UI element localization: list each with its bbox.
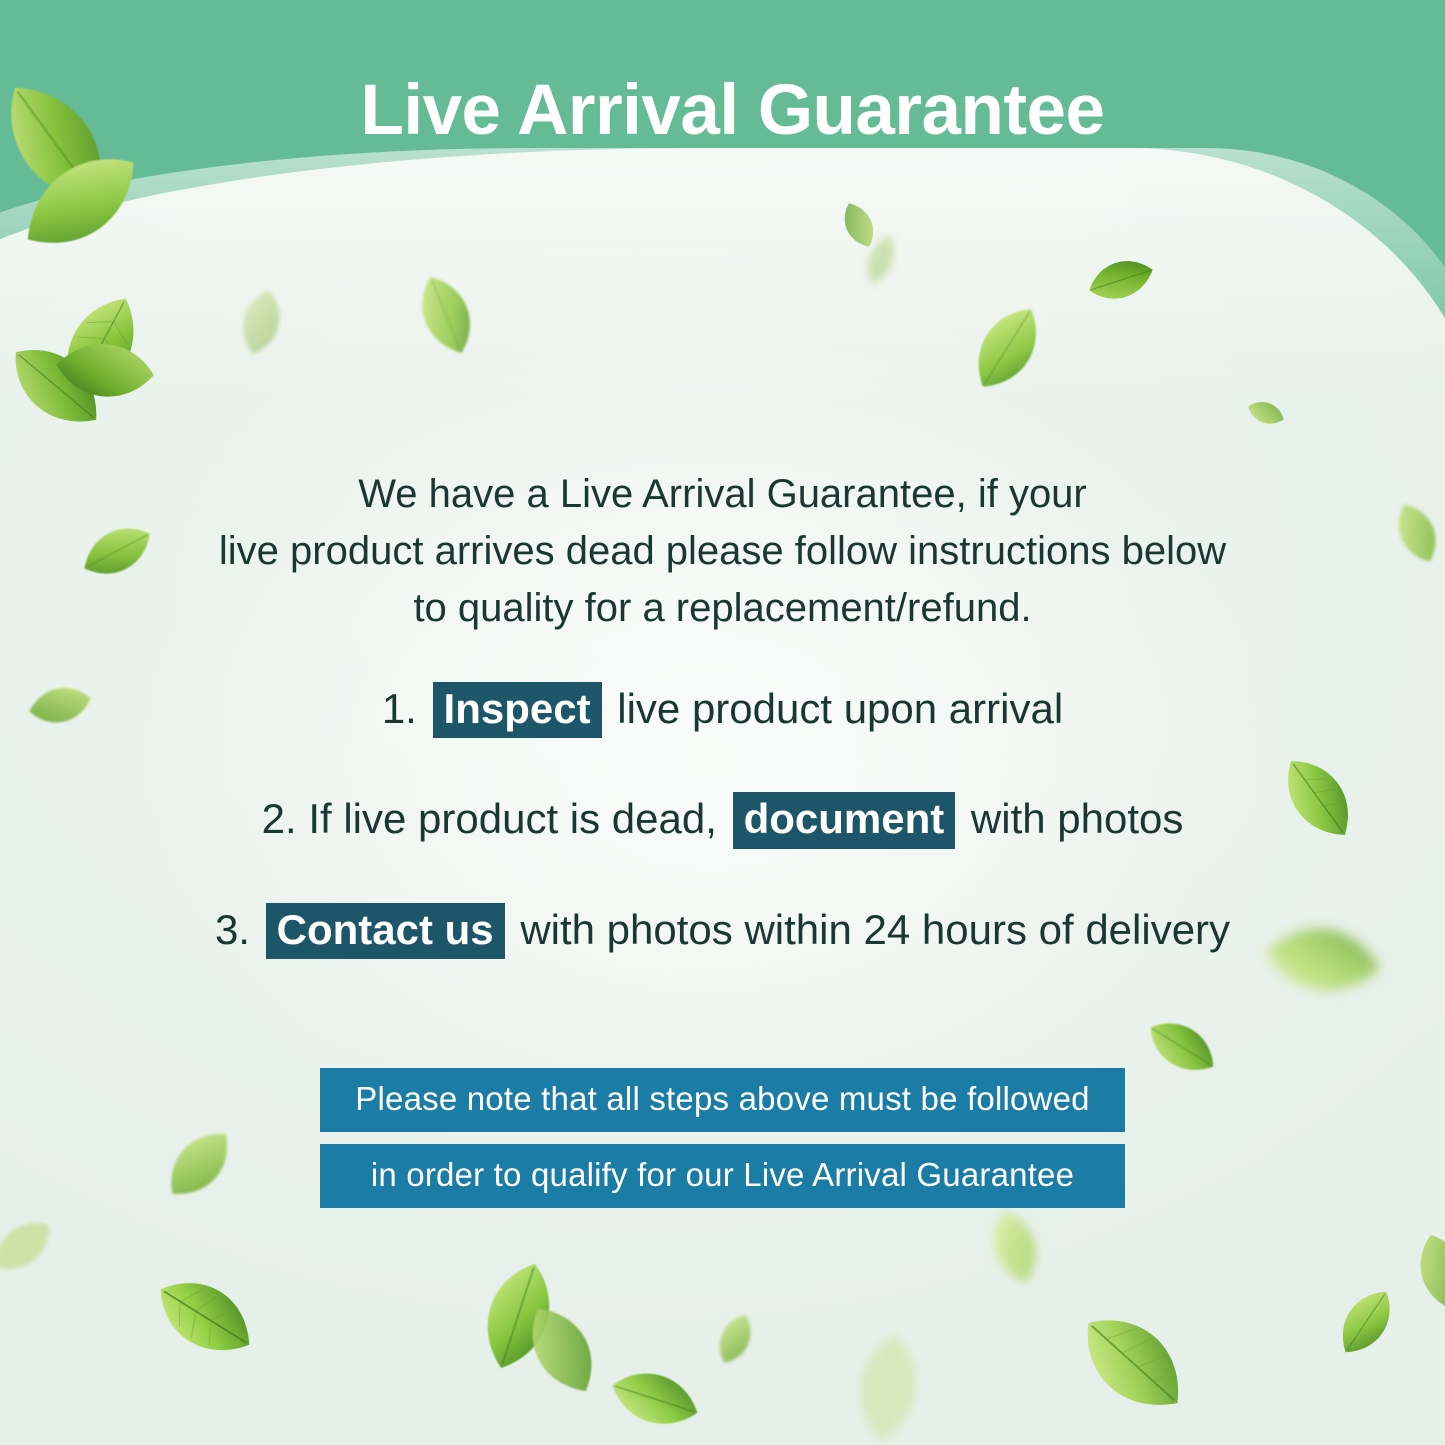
intro-paragraph: We have a Live Arrival Guarantee, if you… [0, 466, 1445, 638]
step-highlight-document[interactable]: document [733, 792, 956, 848]
step-text-before: If live product is dead, [308, 795, 717, 842]
step-highlight-inspect[interactable]: Inspect [433, 682, 602, 738]
step-number: 2. [262, 795, 297, 842]
intro-line: to quality for a replacement/refund. [0, 580, 1445, 637]
step-item-3: 3. Contact us with photos within 24 hour… [0, 903, 1445, 959]
intro-line: We have a Live Arrival Guarantee, if you… [0, 466, 1445, 523]
live-arrival-guarantee-poster: Live Arrival Guarantee We have a Live Ar… [0, 0, 1445, 1445]
step-highlight-contact-us[interactable]: Contact us [266, 903, 505, 959]
step-item-1: 1. Inspect live product upon arrival [0, 682, 1445, 738]
page-title: Live Arrival Guarantee [0, 74, 1445, 149]
step-text: live product upon arrival [617, 685, 1063, 732]
steps-list: 1. Inspect live product upon arrival 2. … [0, 682, 1445, 1013]
step-text: with photos within 24 hours of delivery [520, 906, 1230, 953]
step-item-2: 2. If live product is dead, document wit… [0, 792, 1445, 848]
step-number: 1. [382, 685, 417, 732]
step-number: 3. [215, 906, 250, 953]
intro-line: live product arrives dead please follow … [0, 523, 1445, 580]
note-line: in order to qualify for our Live Arrival… [320, 1144, 1125, 1208]
step-text: with photos [971, 795, 1183, 842]
note-block: Please note that all steps above must be… [0, 1068, 1445, 1220]
note-line: Please note that all steps above must be… [320, 1068, 1125, 1132]
